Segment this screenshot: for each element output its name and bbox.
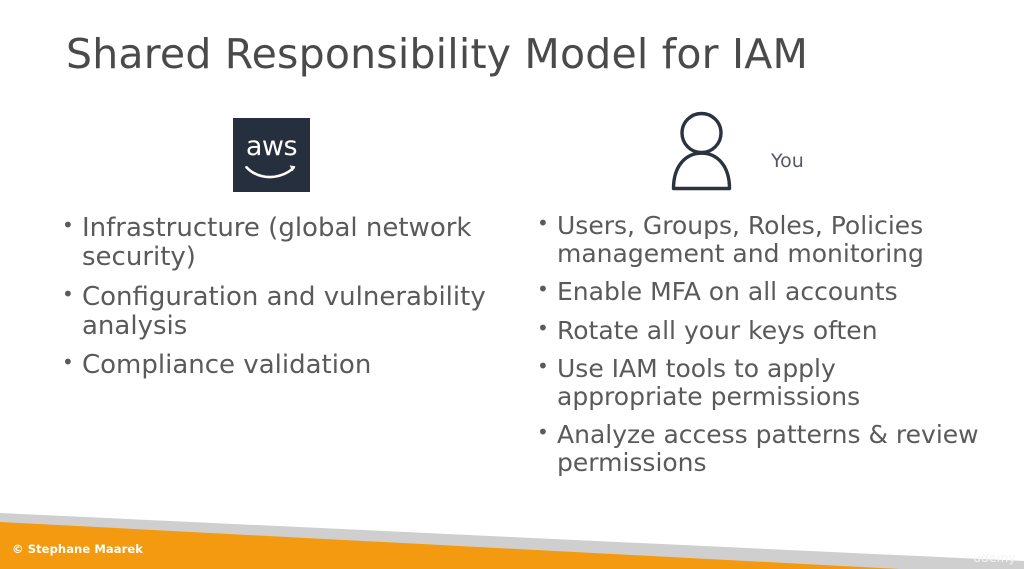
list-item: Analyze access patterns & review permiss… xyxy=(535,421,985,476)
list-item: Infrastructure (global network security) xyxy=(60,214,490,272)
copyright-note: © Stephane Maarek xyxy=(12,542,143,556)
aws-wordmark: aws xyxy=(246,133,297,160)
aws-responsibility-column: aws Infrastructure (global network secur… xyxy=(60,108,490,391)
list-item: Users, Groups, Roles, Policies managemen… xyxy=(535,212,985,267)
aws-column-header: aws xyxy=(60,108,490,200)
list-item: Use IAM tools to apply appropriate permi… xyxy=(535,355,985,410)
aws-smile-arrow xyxy=(245,162,299,179)
customer-responsibility-list: Users, Groups, Roles, Policies managemen… xyxy=(535,212,985,476)
customer-responsibility-column: You Users, Groups, Roles, Policies manag… xyxy=(535,108,985,487)
person-icon xyxy=(671,110,745,194)
customer-column-header: You xyxy=(535,108,985,200)
list-item: Enable MFA on all accounts xyxy=(535,278,985,306)
udemy-watermark: udemy xyxy=(973,551,1016,565)
list-item: Compliance validation xyxy=(60,351,490,380)
page-title: Shared Responsibility Model for IAM xyxy=(66,30,808,78)
list-item: Rotate all your keys often xyxy=(535,317,985,345)
aws-logo: aws xyxy=(233,118,310,192)
slide-canvas: Shared Responsibility Model for IAM aws … xyxy=(0,0,1024,569)
list-item: Configuration and vulnerability analysis xyxy=(60,283,490,341)
footer-orange-wedge xyxy=(0,499,1024,569)
you-label: You xyxy=(771,150,804,172)
aws-responsibility-list: Infrastructure (global network security)… xyxy=(60,214,490,380)
you-header-row: You xyxy=(671,110,804,194)
